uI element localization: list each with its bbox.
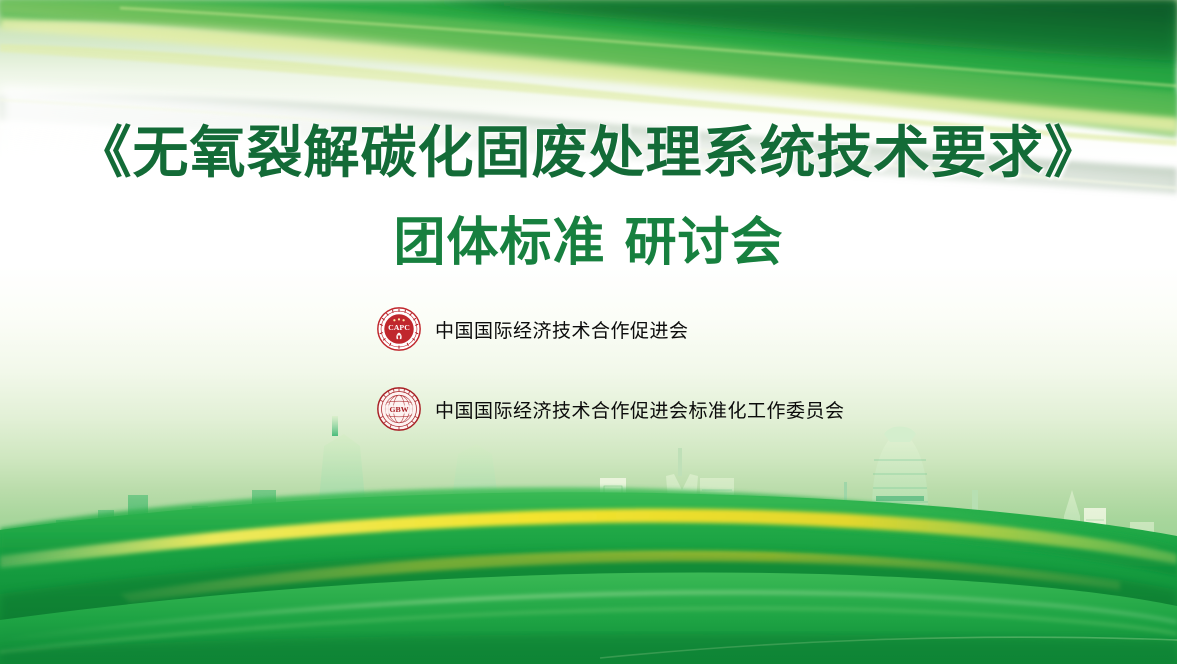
gbw-seal-text: GBW xyxy=(389,405,408,414)
capc-seal-text: CAPC xyxy=(388,323,410,332)
organization-list: CAPC 中国国际经济技术合作促进会 xyxy=(376,305,1096,433)
organization-name: 中国国际经济技术合作促进会 xyxy=(435,316,689,343)
capc-seal-icon: CAPC xyxy=(376,306,422,352)
slide-content: 《无氧裂解碳化固废处理系统技术要求》 团体标准 研讨会 xyxy=(0,0,1177,664)
organization-name: 中国国际经济技术合作促进会标准化工作委员会 xyxy=(435,396,845,423)
list-item: CAPC 中国国际经济技术合作促进会 xyxy=(376,305,1096,353)
list-item: GBW xyxy=(376,385,1096,433)
page-subtitle: 团体标准 研讨会 xyxy=(0,200,1177,275)
gbw-seal-icon: GBW xyxy=(376,386,422,432)
page-title: 《无氧裂解碳化固废处理系统技术要求》 xyxy=(0,108,1177,189)
presentation-title-slide: 《无氧裂解碳化固废处理系统技术要求》 团体标准 研讨会 xyxy=(0,0,1177,664)
